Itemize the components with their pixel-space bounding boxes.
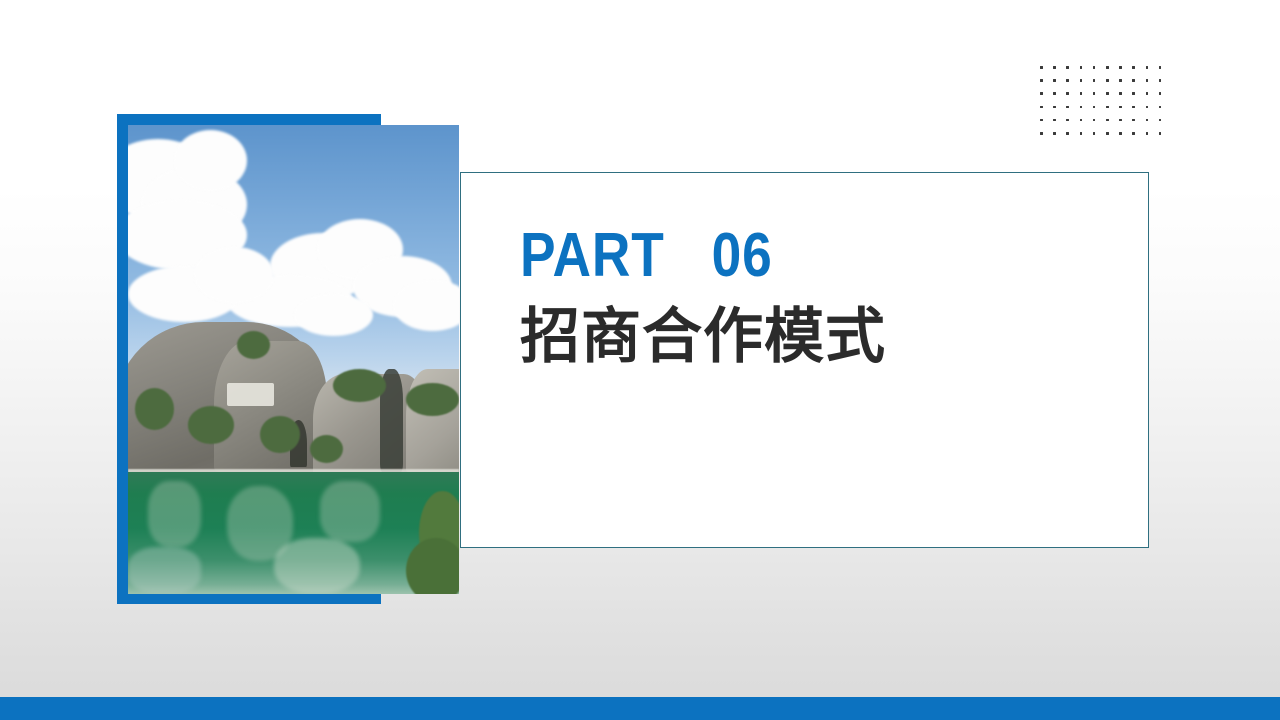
section-title: 招商合作模式 <box>520 302 1120 372</box>
cloud-shape <box>294 294 373 336</box>
grid-dot <box>1146 79 1149 82</box>
bottom-accent-bar <box>0 697 1280 720</box>
grid-dot <box>1106 79 1109 82</box>
water-reflection <box>148 481 201 547</box>
vegetation-patch <box>260 416 300 454</box>
grid-dot <box>1146 106 1149 109</box>
grid-dot <box>1132 79 1135 82</box>
vegetation-patch <box>310 435 343 463</box>
grid-dot <box>1080 79 1083 82</box>
grid-dot <box>1106 66 1109 69</box>
grid-dot <box>1159 132 1162 135</box>
grid-dot <box>1053 66 1056 69</box>
grid-dot <box>1159 106 1162 109</box>
grid-dot <box>1119 92 1122 95</box>
grid-dot <box>1146 119 1149 122</box>
grid-dot <box>1040 119 1043 122</box>
grid-dot <box>1093 92 1096 95</box>
grid-dot <box>1080 92 1083 95</box>
water-reflection <box>320 481 380 542</box>
grid-dot <box>1119 119 1122 122</box>
rock-ledge <box>227 383 273 406</box>
slide-canvas: PART 06 招商合作模式 <box>0 0 1280 720</box>
grid-dot <box>1080 66 1083 69</box>
grid-dot <box>1066 119 1069 122</box>
cloud-shape <box>174 130 247 191</box>
grid-dot <box>1146 66 1149 69</box>
vegetation-patch <box>135 388 175 430</box>
water-reflection <box>274 538 360 594</box>
grid-dot <box>1119 66 1122 69</box>
grid-dot <box>1159 119 1162 122</box>
scenery-photo <box>128 125 459 594</box>
grid-dot <box>1080 119 1083 122</box>
grid-dot <box>1159 79 1162 82</box>
grid-dot <box>1053 79 1056 82</box>
grid-dot <box>1106 119 1109 122</box>
grid-dot <box>1093 79 1096 82</box>
grid-dot <box>1106 106 1109 109</box>
grid-dot <box>1040 79 1043 82</box>
cloud-shape <box>194 247 273 303</box>
grid-dot <box>1132 66 1135 69</box>
grid-dot <box>1066 106 1069 109</box>
grid-dot <box>1132 132 1135 135</box>
grid-dot <box>1053 106 1056 109</box>
grid-dot <box>1159 66 1162 69</box>
grid-dot <box>1066 92 1069 95</box>
grid-dot <box>1093 132 1096 135</box>
grid-dot <box>1119 79 1122 82</box>
vegetation-patch <box>406 383 459 416</box>
vegetation-patch <box>188 406 234 444</box>
vegetation-patch <box>333 369 386 402</box>
grid-dot <box>1159 92 1162 95</box>
grid-dot <box>1080 106 1083 109</box>
grid-dot <box>1093 66 1096 69</box>
grid-dot <box>1040 132 1043 135</box>
grid-dot <box>1040 106 1043 109</box>
grid-dot <box>1132 92 1135 95</box>
grid-dot <box>1132 119 1135 122</box>
grid-dot <box>1146 92 1149 95</box>
grid-dot <box>1119 132 1122 135</box>
grid-dot <box>1132 106 1135 109</box>
grid-dot <box>1040 66 1043 69</box>
grid-dot <box>1053 132 1056 135</box>
grid-dot <box>1053 92 1056 95</box>
grid-dot <box>1040 92 1043 95</box>
title-group: PART 06 招商合作模式 <box>520 222 1120 372</box>
part-label: PART 06 <box>520 222 1036 290</box>
grid-dot <box>1066 132 1069 135</box>
grid-dot <box>1106 132 1109 135</box>
grid-dot <box>1106 92 1109 95</box>
grid-dot <box>1146 132 1149 135</box>
grid-dot <box>1066 79 1069 82</box>
dot-grid-decoration <box>1040 66 1172 145</box>
water-reflection <box>128 547 201 594</box>
grid-dot <box>1053 119 1056 122</box>
grid-dot <box>1066 66 1069 69</box>
grid-dot <box>1093 106 1096 109</box>
grid-dot <box>1093 119 1096 122</box>
grid-dot <box>1080 132 1083 135</box>
grid-dot <box>1119 106 1122 109</box>
